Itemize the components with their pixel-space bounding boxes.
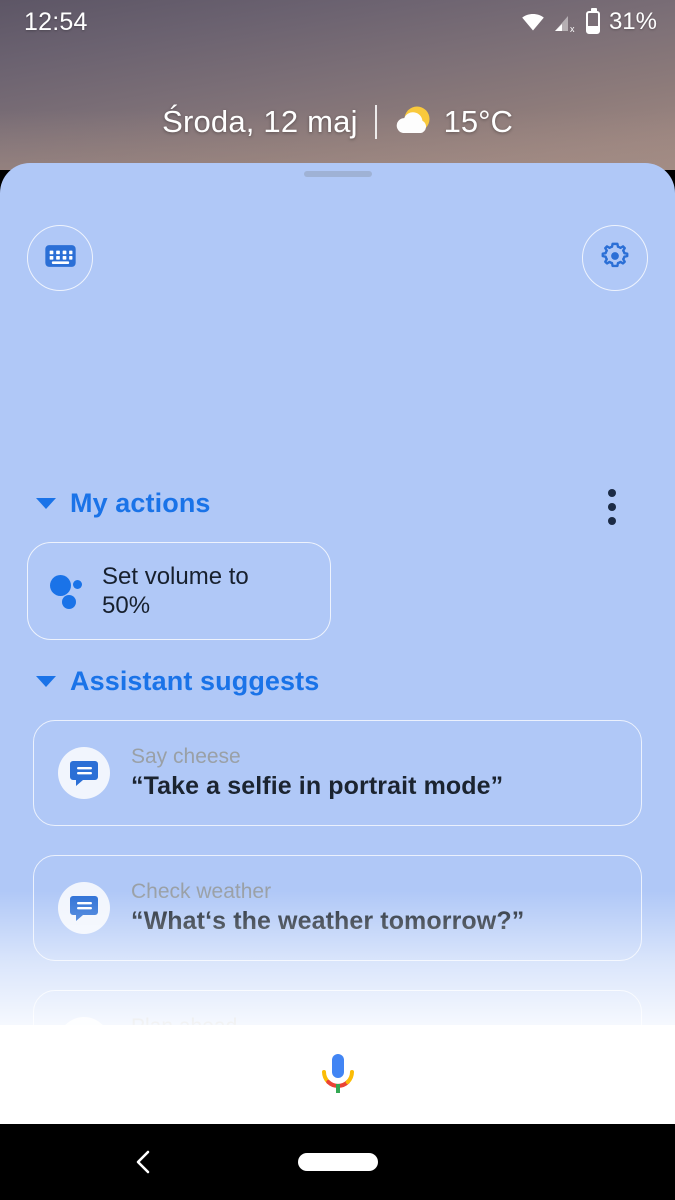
status-clock: 12:54 — [24, 8, 88, 37]
keyboard-button[interactable] — [27, 225, 93, 291]
home-pill-indicator[interactable] — [298, 1153, 378, 1171]
phone-screen: 12:54 x 31% Środa, 12 maj — [0, 0, 675, 1200]
suggestion-quote: “What‘s the weather tomorrow?” — [131, 907, 524, 936]
svg-text:x: x — [570, 24, 575, 33]
date-label: Środa, 12 maj — [162, 104, 358, 140]
chat-bubble-icon — [58, 747, 110, 799]
gear-icon — [599, 240, 631, 277]
keyboard-icon — [44, 243, 77, 274]
overflow-menu-icon[interactable] — [597, 485, 627, 529]
system-navigation-bar — [0, 1124, 675, 1200]
section-header-my-actions[interactable]: My actions — [0, 488, 675, 519]
action-chip-set-volume[interactable]: Set volume to 50% — [27, 542, 331, 640]
caret-down-icon — [36, 676, 56, 687]
sun-behind-cloud-icon — [394, 103, 434, 141]
battery-icon — [586, 11, 600, 34]
action-chip-label: Set volume to 50% — [102, 562, 249, 620]
suggestion-quote: “Take a selfie in portrait mode” — [131, 772, 503, 801]
suggestion-label: Say cheese — [131, 745, 503, 769]
sheet-drag-handle[interactable] — [304, 171, 372, 177]
assistant-routine-icon — [50, 571, 86, 611]
status-bar: 12:54 x 31% — [0, 0, 675, 44]
sheet-toolbar — [0, 225, 675, 291]
status-icon-group: x 31% — [520, 8, 657, 36]
settings-button[interactable] — [582, 225, 648, 291]
chat-bubble-icon — [58, 882, 110, 934]
suggestion-card[interactable]: Say cheese “Take a selfie in portrait mo… — [33, 720, 642, 826]
cellular-no-service-icon: x — [553, 12, 579, 33]
assistant-sheet: My actions Set volume to 50% Assistant s… — [0, 163, 675, 1106]
battery-percent-label: 31% — [609, 8, 657, 36]
caret-down-icon — [36, 498, 56, 509]
wifi-icon — [520, 12, 546, 32]
suggestion-card[interactable]: Check weather “What‘s the weather tomorr… — [33, 855, 642, 961]
section-title-assistant-suggests: Assistant suggests — [70, 666, 319, 697]
suggestion-text: Say cheese “Take a selfie in portrait mo… — [131, 745, 503, 801]
suggestion-text: Check weather “What‘s the weather tomorr… — [131, 880, 524, 936]
bottom-input-bar — [0, 1025, 675, 1124]
google-mic-icon[interactable] — [315, 1050, 361, 1100]
suggestion-label: Check weather — [131, 880, 524, 904]
date-weather-header[interactable]: Środa, 12 maj 15°C — [0, 103, 675, 141]
header-divider — [375, 105, 377, 139]
temperature-label: 15°C — [444, 104, 513, 140]
section-title-my-actions: My actions — [70, 488, 211, 519]
back-chevron-icon[interactable] — [130, 1148, 158, 1176]
section-header-assistant-suggests[interactable]: Assistant suggests — [0, 666, 675, 697]
